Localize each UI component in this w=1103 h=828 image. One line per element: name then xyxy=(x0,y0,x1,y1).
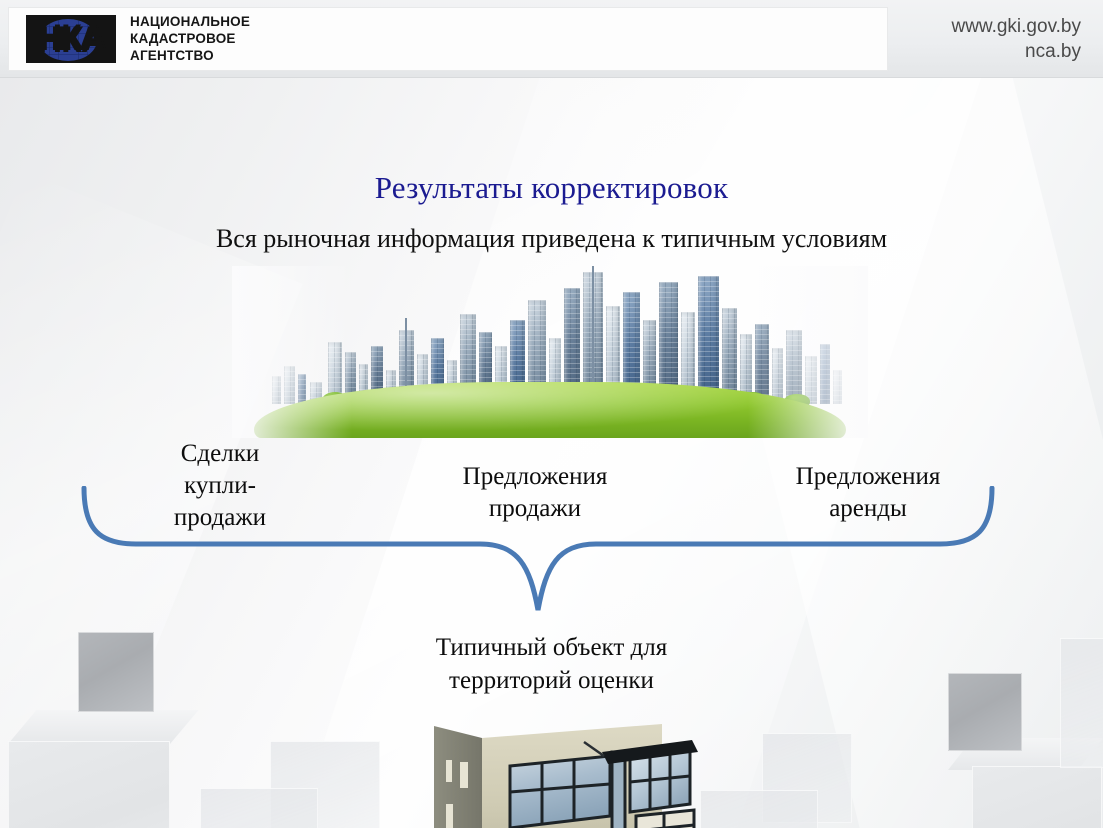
url-primary[interactable]: www.gki.gov.by xyxy=(821,14,1081,39)
background-shape xyxy=(972,766,1102,828)
result-label-line-2: территорий оценки xyxy=(0,664,1103,697)
slide-subtitle: Вся рыночная информация приведена к типи… xyxy=(0,223,1103,255)
background-shape xyxy=(8,710,199,744)
slide-header: НКА НАЦИОНАЛЬНОЕ КАДАСТРОВОЕ АГЕНТСТВО w… xyxy=(0,0,1103,78)
result-label: Типичный объект для территорий оценки xyxy=(0,631,1103,697)
organization-name: НАЦИОНАЛЬНОЕ КАДАСТРОВОЕ АГЕНТСТВО xyxy=(130,13,250,64)
slide-body: Результаты корректировок Вся рыночная ин… xyxy=(0,78,1103,828)
background-shape xyxy=(8,741,170,828)
curly-brace-connector xyxy=(78,486,998,626)
background-shape xyxy=(700,790,818,828)
presentation-slide: НКА НАЦИОНАЛЬНОЕ КАДАСТРОВОЕ АГЕНТСТВО w… xyxy=(0,0,1103,828)
organization-name-line-1: НАЦИОНАЛЬНОЕ xyxy=(130,13,250,30)
typical-building-image xyxy=(424,712,710,828)
logo-letters: НКА xyxy=(26,15,116,63)
office-building-illustration xyxy=(424,712,710,828)
background-shape xyxy=(200,788,318,828)
organization-logo: НКА НАЦИОНАЛЬНОЕ КАДАСТРОВОЕ АГЕНТСТВО xyxy=(26,13,366,67)
cityscape-image xyxy=(232,266,868,438)
url-secondary[interactable]: nca.by xyxy=(821,39,1081,64)
category-1-line-1: Сделки xyxy=(120,438,320,470)
slide-title: Результаты корректировок xyxy=(0,170,1103,206)
result-label-line-1: Типичный объект для xyxy=(0,631,1103,664)
logo-mark-icon: НКА xyxy=(26,15,116,63)
header-urls: www.gki.gov.by nca.by xyxy=(821,14,1081,64)
organization-name-line-2: КАДАСТРОВОЕ xyxy=(130,30,250,47)
curly-brace-icon xyxy=(78,486,998,626)
organization-name-line-3: АГЕНТСТВО xyxy=(130,47,250,64)
